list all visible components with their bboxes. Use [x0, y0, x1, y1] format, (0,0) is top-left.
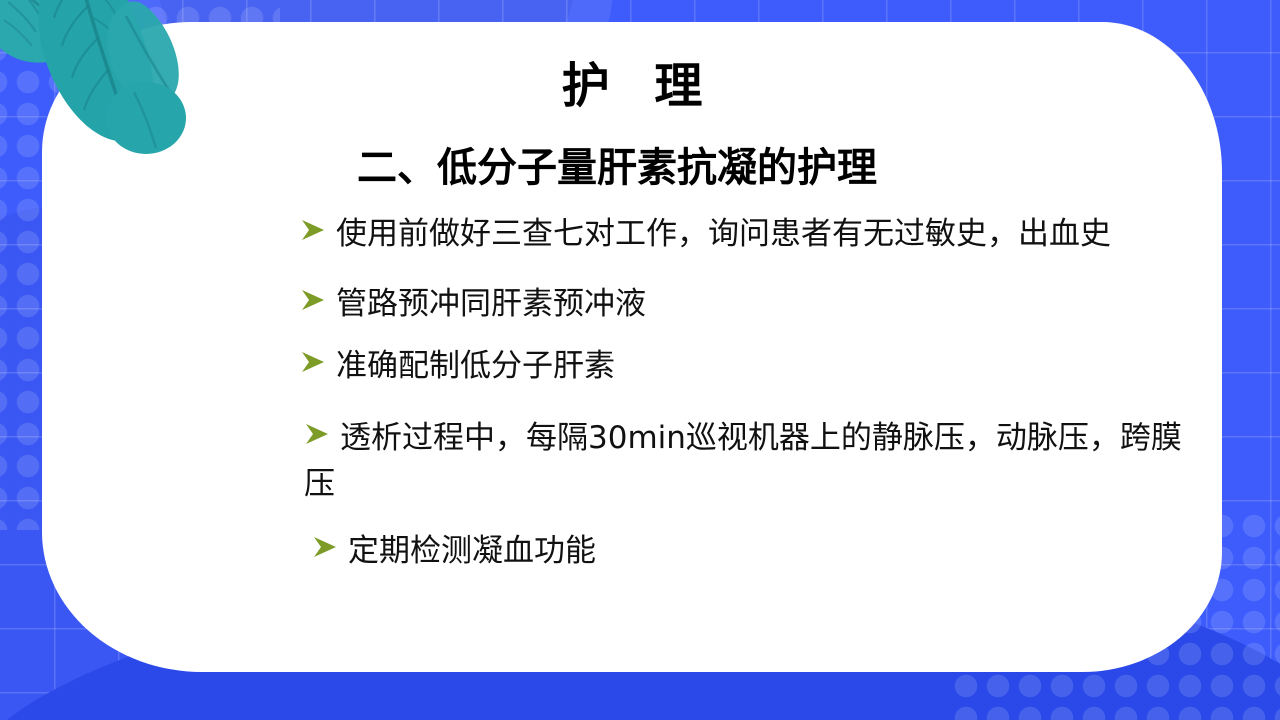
list-item: 使用前做好三查七对工作，询问患者有无过敏史，出血史 [282, 212, 1182, 258]
list-item-text: 管路预冲同肝素预冲液 [336, 286, 646, 322]
list-item-text: 使用前做好三查七对工作，询问患者有无过敏史，出血史 [336, 216, 1111, 252]
list-item-text: 定期检测凝血功能 [348, 533, 596, 569]
slide-subtitle: 二、低分子量肝素抗凝的护理 [42, 144, 1222, 192]
list-item-text: 准确配制低分子肝素 [336, 348, 615, 384]
list-item: 管路预冲同肝素预冲液 [282, 282, 1182, 328]
arrow-bullet-icon [300, 219, 326, 241]
list-item: 透析过程中，每隔30min巡视机器上的静脉压，动脉压，跨膜压 [282, 416, 1182, 508]
arrow-bullet-icon [300, 351, 326, 373]
presentation-slide: 护 理 二、低分子量肝素抗凝的护理 使用前做好三查七对工作，询问患者有无过敏史，… [0, 0, 1280, 720]
list-item-text: 透析过程中，每隔30min巡视机器上的静脉压，动脉压，跨膜压 [304, 420, 1182, 502]
arrow-bullet-icon [300, 289, 326, 311]
arrow-bullet-icon [304, 423, 330, 445]
list-item: 准确配制低分子肝素 [282, 344, 1182, 390]
list-item: 定期检测凝血功能 [282, 529, 1182, 575]
slide-content: 护 理 二、低分子量肝素抗凝的护理 使用前做好三查七对工作，询问患者有无过敏史，… [42, 22, 1222, 672]
bullet-list: 使用前做好三查七对工作，询问患者有无过敏史，出血史 管路预冲同肝素预冲液 准确配… [282, 212, 1182, 575]
arrow-bullet-icon [312, 536, 338, 558]
page-title: 护 理 [42, 60, 1222, 113]
